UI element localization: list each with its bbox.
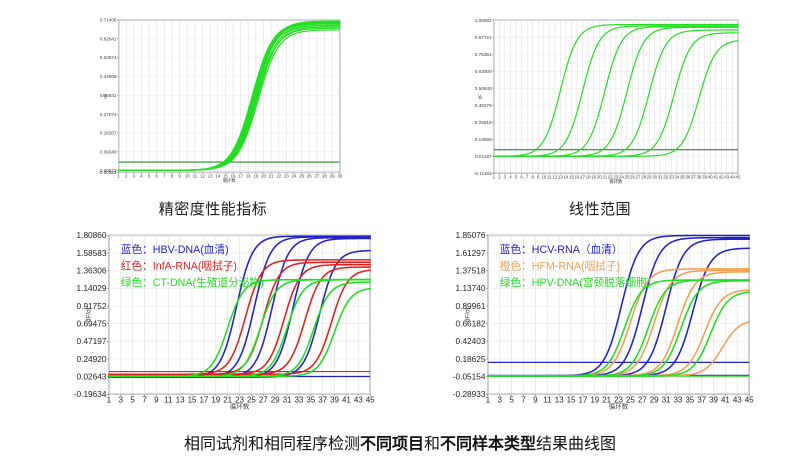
svg-text:1.80860: 1.80860 <box>77 230 107 240</box>
svg-text:33: 33 <box>294 395 303 404</box>
svg-text:循环数: 循环数 <box>609 402 629 411</box>
svg-text:43: 43 <box>354 395 363 404</box>
svg-text:4: 4 <box>509 174 512 179</box>
svg-text:41: 41 <box>721 395 730 404</box>
svg-text:5: 5 <box>509 395 514 404</box>
svg-text:循环数: 循环数 <box>609 178 623 185</box>
svg-text:1.36306: 1.36306 <box>77 266 107 276</box>
svg-text:15: 15 <box>567 395 576 404</box>
svg-text:13: 13 <box>555 395 564 404</box>
svg-text:0.27074: 0.27074 <box>100 112 117 117</box>
svg-text:3: 3 <box>119 395 124 404</box>
svg-text:1.00082: 1.00082 <box>475 18 492 23</box>
main-caption: 相同试剂和相同程序检测不同项目和不同样本类型结果曲线图 <box>0 430 800 454</box>
svg-text:39: 39 <box>709 395 718 404</box>
svg-text:5: 5 <box>130 395 135 404</box>
svg-text:0.38279: 0.38279 <box>475 103 492 108</box>
svg-text:1.58583: 1.58583 <box>77 248 107 258</box>
svg-text:dF/dt: dF/dt <box>464 307 471 322</box>
svg-text:29: 29 <box>271 395 280 404</box>
svg-text:3: 3 <box>498 395 503 404</box>
chart-panel-linear-range: 1.000820.877210.753610.630000.506400.382… <box>450 12 750 194</box>
svg-text:17: 17 <box>199 395 208 404</box>
svg-text:37: 37 <box>318 395 327 404</box>
svg-text:13: 13 <box>176 395 185 404</box>
svg-text:19: 19 <box>590 395 599 404</box>
svg-text:1: 1 <box>486 395 491 404</box>
svg-text:11: 11 <box>193 173 198 178</box>
svg-text:-0.00383: -0.00383 <box>98 170 117 175</box>
svg-text:3: 3 <box>133 173 136 178</box>
svg-text:4: 4 <box>140 173 143 178</box>
svg-text:-0.28933: -0.28933 <box>453 389 486 399</box>
svg-text:35: 35 <box>685 395 694 404</box>
svg-text:0.53874: 0.53874 <box>100 55 117 60</box>
svg-text:dF/dt: dF/dt <box>85 307 92 322</box>
svg-text:19: 19 <box>211 395 220 404</box>
svg-text:31: 31 <box>283 395 292 404</box>
svg-text:1.85076: 1.85076 <box>456 230 486 240</box>
svg-text:9: 9 <box>537 174 540 179</box>
legend-item-2: 绿色：HPV-DNA(宫颈脱落细胞) <box>500 276 651 289</box>
main-caption-part-2: 和 <box>424 436 440 453</box>
svg-text:7: 7 <box>526 174 529 179</box>
different-samples-chart-svg: 1.850761.612971.375181.137400.899610.661… <box>432 228 762 418</box>
precision-chart-svg: 0.714080.626410.538740.448080.358410.270… <box>78 12 348 194</box>
main-caption-part-0: 相同试剂和相同程序检测 <box>184 436 360 453</box>
svg-text:45: 45 <box>745 395 754 404</box>
svg-text:1.14029: 1.14029 <box>77 283 107 293</box>
chart-panel-different-targets: 1.808601.585831.363061.140290.917520.694… <box>58 228 378 418</box>
linear-range-chart-svg: 1.000820.877210.753610.630000.506400.382… <box>450 12 750 194</box>
main-caption-part-4: 结果曲线图 <box>536 436 616 453</box>
svg-text:0.01197: 0.01197 <box>475 154 492 159</box>
svg-text:28: 28 <box>322 173 327 178</box>
svg-text:0.87721: 0.87721 <box>475 35 492 40</box>
svg-text:21: 21 <box>269 173 274 178</box>
svg-text:41: 41 <box>342 395 351 404</box>
svg-text:8: 8 <box>171 173 174 178</box>
svg-text:0.18625: 0.18625 <box>456 354 486 364</box>
svg-text:-0.05154: -0.05154 <box>453 371 486 381</box>
svg-text:5: 5 <box>515 174 518 179</box>
svg-text:29: 29 <box>650 395 659 404</box>
caption-linear-range: 线性范围 <box>450 198 750 219</box>
svg-text:0.47197: 0.47197 <box>77 336 107 346</box>
svg-text:6: 6 <box>156 173 159 178</box>
svg-text:1: 1 <box>107 395 112 404</box>
svg-text:0.24920: 0.24920 <box>77 354 107 364</box>
svg-text:1: 1 <box>117 173 120 178</box>
svg-text:6: 6 <box>520 174 523 179</box>
svg-text:0.63000: 0.63000 <box>475 69 492 74</box>
svg-text:9: 9 <box>533 395 538 404</box>
svg-text:39: 39 <box>330 395 339 404</box>
caption-precision: 精密度性能指标 <box>78 198 348 219</box>
svg-text:1.13740: 1.13740 <box>456 283 486 293</box>
legend-item-1: 橙色：HFM-RNA(咽拭子) <box>500 260 620 273</box>
svg-text:0.25918: 0.25918 <box>475 120 492 125</box>
main-caption-part-3: 不同样本类型 <box>440 436 536 453</box>
svg-text:29: 29 <box>330 173 335 178</box>
svg-text:12: 12 <box>200 173 205 178</box>
svg-text:-0.19634: -0.19634 <box>74 389 107 399</box>
legend-item-1: 红色：InfA-RNA(咽拭子) <box>121 260 237 273</box>
svg-text:7: 7 <box>142 395 147 404</box>
svg-text:23: 23 <box>284 173 289 178</box>
svg-text:0.75361: 0.75361 <box>475 52 492 57</box>
svg-text:0.44808: 0.44808 <box>100 74 117 79</box>
svg-text:11: 11 <box>543 395 552 404</box>
svg-text:35: 35 <box>306 395 315 404</box>
svg-text:33: 33 <box>673 395 682 404</box>
svg-text:30: 30 <box>337 173 342 178</box>
svg-text:0.02643: 0.02643 <box>77 371 107 381</box>
svg-text:22: 22 <box>276 173 281 178</box>
svg-text:dF: dF <box>477 94 482 99</box>
svg-text:10: 10 <box>541 174 546 179</box>
svg-text:0.62641: 0.62641 <box>100 36 117 41</box>
svg-text:43: 43 <box>733 395 742 404</box>
svg-text:15: 15 <box>188 395 197 404</box>
svg-text:8: 8 <box>531 174 534 179</box>
svg-text:0.18207: 0.18207 <box>100 131 117 136</box>
svg-text:14: 14 <box>215 173 220 178</box>
svg-text:17: 17 <box>578 395 587 404</box>
svg-text:5: 5 <box>148 173 151 178</box>
svg-text:27: 27 <box>638 395 647 404</box>
legend-item-0: 蓝色：HBV-DNA(血清) <box>121 243 229 256</box>
svg-text:11: 11 <box>547 174 552 179</box>
svg-text:2: 2 <box>125 173 128 178</box>
svg-text:1: 1 <box>493 174 496 179</box>
svg-text:18: 18 <box>246 173 251 178</box>
svg-text:2: 2 <box>498 174 501 179</box>
svg-text:7: 7 <box>163 173 166 178</box>
svg-text:-0.11163: -0.11163 <box>474 171 492 176</box>
svg-text:循环数: 循环数 <box>230 402 250 411</box>
svg-text:31: 31 <box>662 395 671 404</box>
svg-text:27: 27 <box>314 173 319 178</box>
svg-text:3: 3 <box>504 174 507 179</box>
svg-text:45: 45 <box>366 395 375 404</box>
svg-text:1.61297: 1.61297 <box>456 248 486 258</box>
figure-sheet: 0.714080.626410.538740.448080.358410.270… <box>0 0 800 470</box>
svg-text:25: 25 <box>299 173 304 178</box>
svg-text:24: 24 <box>292 173 297 178</box>
svg-text:0.71408: 0.71408 <box>100 18 117 23</box>
svg-text:20: 20 <box>261 173 266 178</box>
svg-text:7: 7 <box>521 395 526 404</box>
chart-panel-different-samples: 1.850761.612971.375181.137400.899610.661… <box>432 228 762 418</box>
svg-text:11: 11 <box>164 395 173 404</box>
svg-text:26: 26 <box>307 173 312 178</box>
chart-panel-precision: 0.714080.626410.538740.448080.358410.270… <box>78 12 348 194</box>
svg-text:循环数: 循环数 <box>223 177 237 184</box>
svg-text:0.42403: 0.42403 <box>456 336 486 346</box>
svg-text:0.13558: 0.13558 <box>475 137 492 142</box>
svg-text:dF: dF <box>102 93 107 98</box>
different-targets-chart-svg: 1.808601.585831.363061.140290.917520.694… <box>58 228 378 418</box>
svg-text:10: 10 <box>185 173 190 178</box>
svg-text:19: 19 <box>253 173 258 178</box>
svg-text:27: 27 <box>259 395 268 404</box>
svg-text:0.50640: 0.50640 <box>475 86 492 91</box>
legend-item-0: 蓝色：HCV-RNA（血清） <box>500 243 623 256</box>
svg-text:1.37518: 1.37518 <box>456 266 486 276</box>
svg-text:0.09340: 0.09340 <box>100 149 117 154</box>
legend-item-2: 绿色：CT-DNA(生殖道分泌物) <box>121 276 264 289</box>
svg-text:17: 17 <box>238 173 243 178</box>
svg-text:37: 37 <box>697 395 706 404</box>
svg-text:45: 45 <box>735 174 740 179</box>
svg-text:9: 9 <box>178 173 181 178</box>
svg-text:13: 13 <box>208 173 213 178</box>
svg-text:9: 9 <box>154 395 159 404</box>
main-caption-part-1: 不同项目 <box>360 436 424 453</box>
